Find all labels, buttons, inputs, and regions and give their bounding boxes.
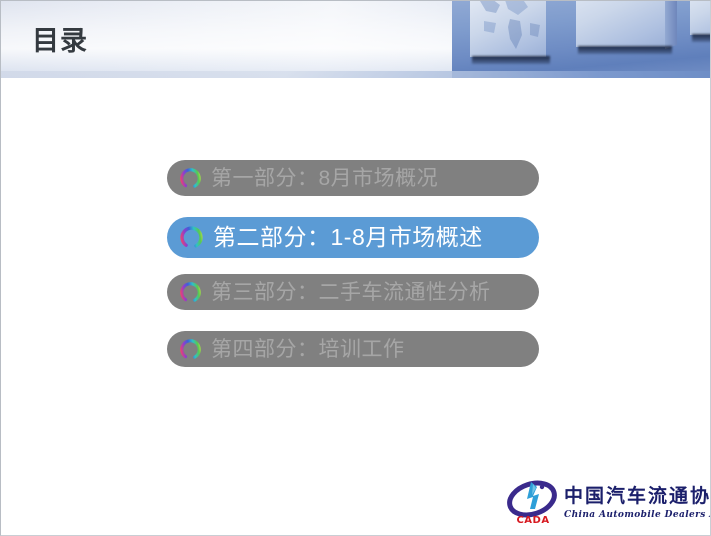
toc-item-part-2[interactable]: 第二部分：1-8月市场概述 (167, 217, 539, 258)
toc-item-part-4[interactable]: 第四部分：培训工作 (167, 331, 539, 367)
logo-name-en: China Automobile Dealers Association (564, 510, 711, 521)
slide-canvas: 目录 (0, 0, 711, 536)
toc-item-part-3[interactable]: 第三部分：二手车流通性分析 (167, 274, 539, 310)
logo-name-cn: 中国汽车流通协会 (564, 486, 711, 508)
toc-item-label: 第二部分：1-8月市场概述 (205, 226, 483, 249)
rainbow-ring-icon (178, 224, 205, 251)
decorative-cube-center-icon (576, 1, 668, 47)
cube-front-face (576, 1, 668, 47)
header-cube-decoration (452, 1, 711, 78)
logo-text-block: 中国汽车流通协会 China Automobile Dealers Associ… (560, 486, 711, 521)
decorative-cube-right-icon (690, 1, 711, 35)
page-title: 目录 (32, 27, 88, 57)
toc-item-part-1[interactable]: 第一部分：8月市场概况 (167, 160, 539, 196)
world-map-texture-icon (470, 1, 546, 57)
slide-header-band: 目录 (1, 1, 711, 78)
organization-logo: CADA 中国汽车流通协会 China Automobile Dealers A… (506, 477, 704, 529)
cube-shadow (578, 46, 672, 54)
cube-shadow (472, 56, 550, 64)
cada-mark-text: CADA (516, 515, 549, 526)
cada-emblem-icon: CADA (506, 479, 560, 527)
toc-item-label: 第三部分：二手车流通性分析 (203, 282, 491, 303)
header-bottom-edge (1, 71, 711, 78)
cube-shadow (692, 34, 711, 42)
decorative-cube-left-icon (470, 1, 546, 57)
rainbow-ring-icon (178, 337, 203, 362)
cube-front-face (690, 1, 711, 35)
toc-item-label: 第一部分：8月市场概况 (203, 168, 438, 189)
rainbow-ring-icon (178, 280, 203, 305)
table-of-contents: 第一部分：8月市场概况 (167, 160, 539, 388)
cube-side-face (665, 1, 677, 49)
toc-item-label: 第四部分：培训工作 (203, 339, 405, 360)
rainbow-ring-icon (178, 166, 203, 191)
